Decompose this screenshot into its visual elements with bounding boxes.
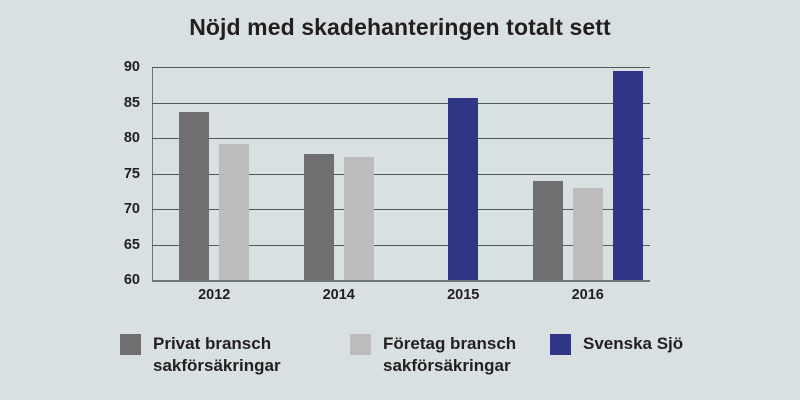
bar-2014-privat: [304, 154, 334, 280]
legend-item-privat[interactable]: Privat branschsakförsäkringar: [120, 333, 281, 377]
y-axis-tick-label: 80: [100, 130, 140, 146]
plot-area: [152, 67, 650, 280]
legend-item-sjo[interactable]: Svenska Sjö: [550, 333, 683, 355]
gridline: [152, 138, 650, 139]
legend-label: Företag branschsakförsäkringar: [383, 333, 516, 377]
bar-2015-sjo: [448, 98, 478, 280]
bar-2014-foretag: [344, 157, 374, 280]
legend-swatch-sjo-icon: [550, 334, 571, 355]
bar-2016-sjo: [613, 71, 643, 280]
chart-title: Nöjd med skadehanteringen totalt sett: [0, 14, 800, 41]
y-axis-tick-labels: 90858075706560: [88, 67, 140, 280]
legend-item-foretag[interactable]: Företag branschsakförsäkringar: [350, 333, 516, 377]
chart-container: Nöjd med skadehanteringen totalt sett 90…: [0, 0, 800, 400]
legend-label: Privat branschsakförsäkringar: [153, 333, 281, 377]
y-axis-tick-label: 75: [100, 166, 140, 182]
x-axis-tick-label-2016: 2016: [572, 287, 604, 303]
bar-2012-foretag: [219, 144, 249, 280]
x-axis-tick-label-2012: 2012: [198, 287, 230, 303]
chart-legend: Privat branschsakförsäkringarFöretag bra…: [120, 333, 720, 389]
bar-2016-foretag: [573, 188, 603, 280]
y-axis-tick-label: 60: [100, 272, 140, 288]
legend-swatch-foretag-icon: [350, 334, 371, 355]
gridline: [152, 67, 650, 68]
legend-label: Svenska Sjö: [583, 333, 683, 355]
bar-2012-privat: [179, 112, 209, 280]
y-axis-tick-label: 70: [100, 201, 140, 217]
y-axis-tick-label: 85: [100, 95, 140, 111]
legend-swatch-privat-icon: [120, 334, 141, 355]
y-axis-tick-label: 90: [100, 59, 140, 75]
x-axis-tick-labels: 2012201420152016: [152, 287, 650, 309]
y-axis-tick-label: 65: [100, 237, 140, 253]
bar-2016-privat: [533, 181, 563, 280]
x-axis-tick-label-2015: 2015: [447, 287, 479, 303]
x-axis-line: [152, 280, 650, 282]
gridline: [152, 103, 650, 104]
x-axis-tick-label-2014: 2014: [323, 287, 355, 303]
